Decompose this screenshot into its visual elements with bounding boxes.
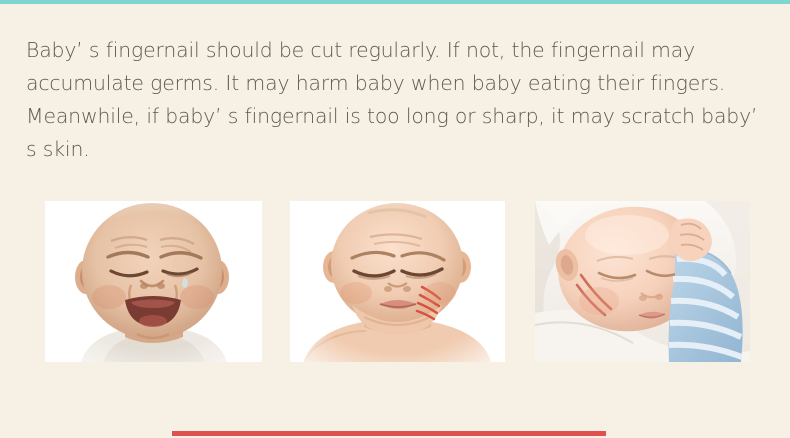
top-accent-rule — [0, 0, 790, 4]
body-copy-text: Baby’ s fingernail should be cut regular… — [26, 34, 771, 166]
bottom-accent-rule — [172, 431, 606, 436]
product-description-slide: Baby’ s fingernail should be cut regular… — [0, 0, 790, 438]
crying-baby-illustration — [45, 201, 262, 362]
sleeping-baby-illustration — [535, 201, 750, 362]
scratched-cheek-illustration — [290, 201, 505, 362]
photo-sleeping-baby — [535, 201, 750, 362]
photo-row — [0, 201, 790, 363]
photo-baby-scratched-cheek — [290, 201, 505, 362]
photo-crying-baby — [45, 201, 262, 362]
